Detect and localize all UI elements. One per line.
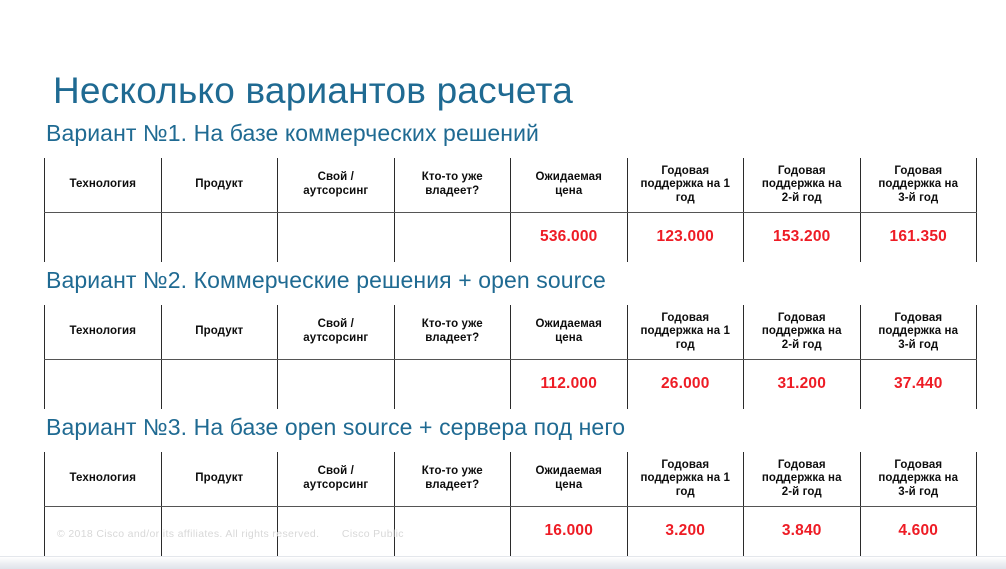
header-line: 3-й год bbox=[898, 192, 938, 204]
calculation-table-3: Технология Продукт Свой / аутсорсинг Кто… bbox=[44, 452, 977, 556]
column-header-someone-owns: Кто-то уже владеет? bbox=[394, 158, 511, 212]
table-header-row: Технология Продукт Свой / аутсорсинг Кто… bbox=[45, 158, 977, 212]
header-line: аутсорсинг bbox=[303, 332, 368, 344]
footer-classification: Cisco Public bbox=[342, 528, 404, 540]
calculation-table-2: Технология Продукт Свой / аутсорсинг Кто… bbox=[44, 305, 977, 409]
footer-note: © 2018 Cisco and/or its affiliates. All … bbox=[57, 528, 404, 540]
column-header-support-year-3: Годовая поддержка на 3-й год bbox=[860, 305, 977, 359]
cell-expected-price[interactable]: 536.000 bbox=[511, 212, 628, 262]
header-line: владеет? bbox=[425, 332, 479, 344]
header-line: год bbox=[676, 192, 695, 204]
header-line: Кто-то уже bbox=[422, 318, 483, 330]
cell-support-year-3[interactable]: 161.350 bbox=[860, 212, 977, 262]
variant-section-1: Вариант №1. На базе коммерческих решений… bbox=[44, 118, 976, 262]
column-header-expected-price: Ожидаемая цена bbox=[511, 158, 628, 212]
header-line: Годовая bbox=[661, 459, 709, 471]
column-header-support-year-2: Годовая поддержка на 2-й год bbox=[744, 158, 861, 212]
header-line: Годовая bbox=[778, 459, 826, 471]
column-header-support-year-3: Годовая поддержка на 3-й год bbox=[860, 158, 977, 212]
column-header-expected-price: Ожидаемая цена bbox=[511, 452, 628, 506]
header-line: 3-й год bbox=[898, 339, 938, 351]
column-header-support-year-1: Годовая поддержка на 1 год bbox=[627, 305, 744, 359]
header-line: поддержка на 1 bbox=[640, 178, 730, 190]
header-line: Продукт bbox=[195, 472, 243, 484]
column-header-someone-owns: Кто-то уже владеет? bbox=[394, 305, 511, 359]
header-line: Годовая bbox=[661, 165, 709, 177]
header-line: год bbox=[676, 339, 695, 351]
variant-section-2: Вариант №2. Коммерческие решения + open … bbox=[44, 265, 976, 409]
header-line: Ожидаемая bbox=[536, 318, 602, 330]
cell-support-year-3[interactable]: 4.600 bbox=[860, 506, 977, 556]
header-line: поддержка на 1 bbox=[640, 325, 730, 337]
header-line: поддержка на 1 bbox=[640, 472, 730, 484]
cell-support-year-1[interactable]: 3.200 bbox=[627, 506, 744, 556]
column-header-inhouse-outsourcing: Свой / аутсорсинг bbox=[278, 452, 395, 506]
cell-expected-price[interactable]: 112.000 bbox=[511, 359, 628, 409]
header-line: Годовая bbox=[894, 165, 942, 177]
column-header-support-year-1: Годовая поддержка на 1 год bbox=[627, 452, 744, 506]
column-header-product: Продукт bbox=[161, 305, 278, 359]
header-line: год bbox=[676, 486, 695, 498]
header-line: 3-й год bbox=[898, 486, 938, 498]
header-line: Продукт bbox=[195, 325, 243, 337]
table-header-row: Технология Продукт Свой / аутсорсинг Кто… bbox=[45, 452, 977, 506]
cell-support-year-2[interactable]: 3.840 bbox=[744, 506, 861, 556]
header-line: владеет? bbox=[425, 185, 479, 197]
cell-support-year-2[interactable]: 153.200 bbox=[744, 212, 861, 262]
cell-support-year-3[interactable]: 37.440 bbox=[860, 359, 977, 409]
header-line: 2-й год bbox=[782, 486, 822, 498]
column-header-support-year-2: Годовая поддержка на 2-й год bbox=[744, 452, 861, 506]
cell-technology[interactable] bbox=[45, 359, 162, 409]
header-line: Свой / bbox=[318, 465, 354, 477]
header-line: аутсорсинг bbox=[303, 185, 368, 197]
header-line: поддержка на bbox=[762, 325, 842, 337]
cell-support-year-2[interactable]: 31.200 bbox=[744, 359, 861, 409]
footer-copyright: © 2018 Cisco and/or its affiliates. All … bbox=[57, 528, 319, 540]
column-header-support-year-3: Годовая поддержка на 3-й год bbox=[860, 452, 977, 506]
cell-technology[interactable] bbox=[45, 212, 162, 262]
column-header-support-year-2: Годовая поддержка на 2-й год bbox=[744, 305, 861, 359]
cell-product[interactable] bbox=[161, 212, 278, 262]
column-header-someone-owns: Кто-то уже владеет? bbox=[394, 452, 511, 506]
cell-support-year-1[interactable]: 123.000 bbox=[627, 212, 744, 262]
footer-bar bbox=[0, 556, 1006, 569]
header-line: Годовая bbox=[778, 165, 826, 177]
cell-expected-price[interactable]: 16.000 bbox=[511, 506, 628, 556]
column-header-support-year-1: Годовая поддержка на 1 год bbox=[627, 158, 744, 212]
cell-support-year-1[interactable]: 26.000 bbox=[627, 359, 744, 409]
section-heading-3: Вариант №3. На базе open source + сервер… bbox=[46, 412, 976, 442]
header-line: Кто-то уже bbox=[422, 465, 483, 477]
column-header-technology: Технология bbox=[45, 305, 162, 359]
header-line: Свой / bbox=[318, 171, 354, 183]
header-line: цена bbox=[555, 332, 582, 344]
slide: Несколько вариантов расчета Вариант №1. … bbox=[0, 0, 1006, 569]
header-line: Годовая bbox=[778, 312, 826, 324]
header-line: Годовая bbox=[894, 459, 942, 471]
header-line: Ожидаемая bbox=[536, 465, 602, 477]
header-line: 2-й год bbox=[782, 339, 822, 351]
header-line: поддержка на bbox=[878, 325, 958, 337]
section-heading-1: Вариант №1. На базе коммерческих решений bbox=[46, 118, 976, 148]
header-line: Технология bbox=[69, 325, 136, 337]
header-line: Продукт bbox=[195, 178, 243, 190]
section-heading-2: Вариант №2. Коммерческие решения + open … bbox=[46, 265, 976, 295]
table-row: 536.000 123.000 153.200 161.350 bbox=[45, 212, 977, 262]
cell-someone-owns[interactable] bbox=[394, 359, 511, 409]
column-header-inhouse-outsourcing: Свой / аутсорсинг bbox=[278, 305, 395, 359]
header-line: поддержка на bbox=[878, 472, 958, 484]
header-line: 2-й год bbox=[782, 192, 822, 204]
column-header-technology: Технология bbox=[45, 452, 162, 506]
header-line: поддержка на bbox=[762, 178, 842, 190]
column-header-product: Продукт bbox=[161, 452, 278, 506]
header-line: Кто-то уже bbox=[422, 171, 483, 183]
header-line: Технология bbox=[69, 472, 136, 484]
column-header-technology: Технология bbox=[45, 158, 162, 212]
page-title: Несколько вариантов расчета bbox=[53, 69, 573, 113]
column-header-expected-price: Ожидаемая цена bbox=[511, 305, 628, 359]
header-line: Годовая bbox=[661, 312, 709, 324]
header-line: поддержка на bbox=[762, 472, 842, 484]
header-line: Годовая bbox=[894, 312, 942, 324]
table-row: 112.000 26.000 31.200 37.440 bbox=[45, 359, 977, 409]
cell-inhouse-outsourcing[interactable] bbox=[278, 212, 395, 262]
cell-someone-owns[interactable] bbox=[394, 212, 511, 262]
calculation-table-1: Технология Продукт Свой / аутсорсинг Кто… bbox=[44, 158, 977, 262]
cell-product[interactable] bbox=[161, 359, 278, 409]
header-line: аутсорсинг bbox=[303, 479, 368, 491]
cell-someone-owns[interactable] bbox=[394, 506, 511, 556]
column-header-product: Продукт bbox=[161, 158, 278, 212]
header-line: цена bbox=[555, 479, 582, 491]
header-line: Технология bbox=[69, 178, 136, 190]
header-line: Ожидаемая bbox=[536, 171, 602, 183]
column-header-inhouse-outsourcing: Свой / аутсорсинг bbox=[278, 158, 395, 212]
header-line: Свой / bbox=[318, 318, 354, 330]
table-header-row: Технология Продукт Свой / аутсорсинг Кто… bbox=[45, 305, 977, 359]
header-line: владеет? bbox=[425, 479, 479, 491]
header-line: поддержка на bbox=[878, 178, 958, 190]
cell-inhouse-outsourcing[interactable] bbox=[278, 359, 395, 409]
header-line: цена bbox=[555, 185, 582, 197]
